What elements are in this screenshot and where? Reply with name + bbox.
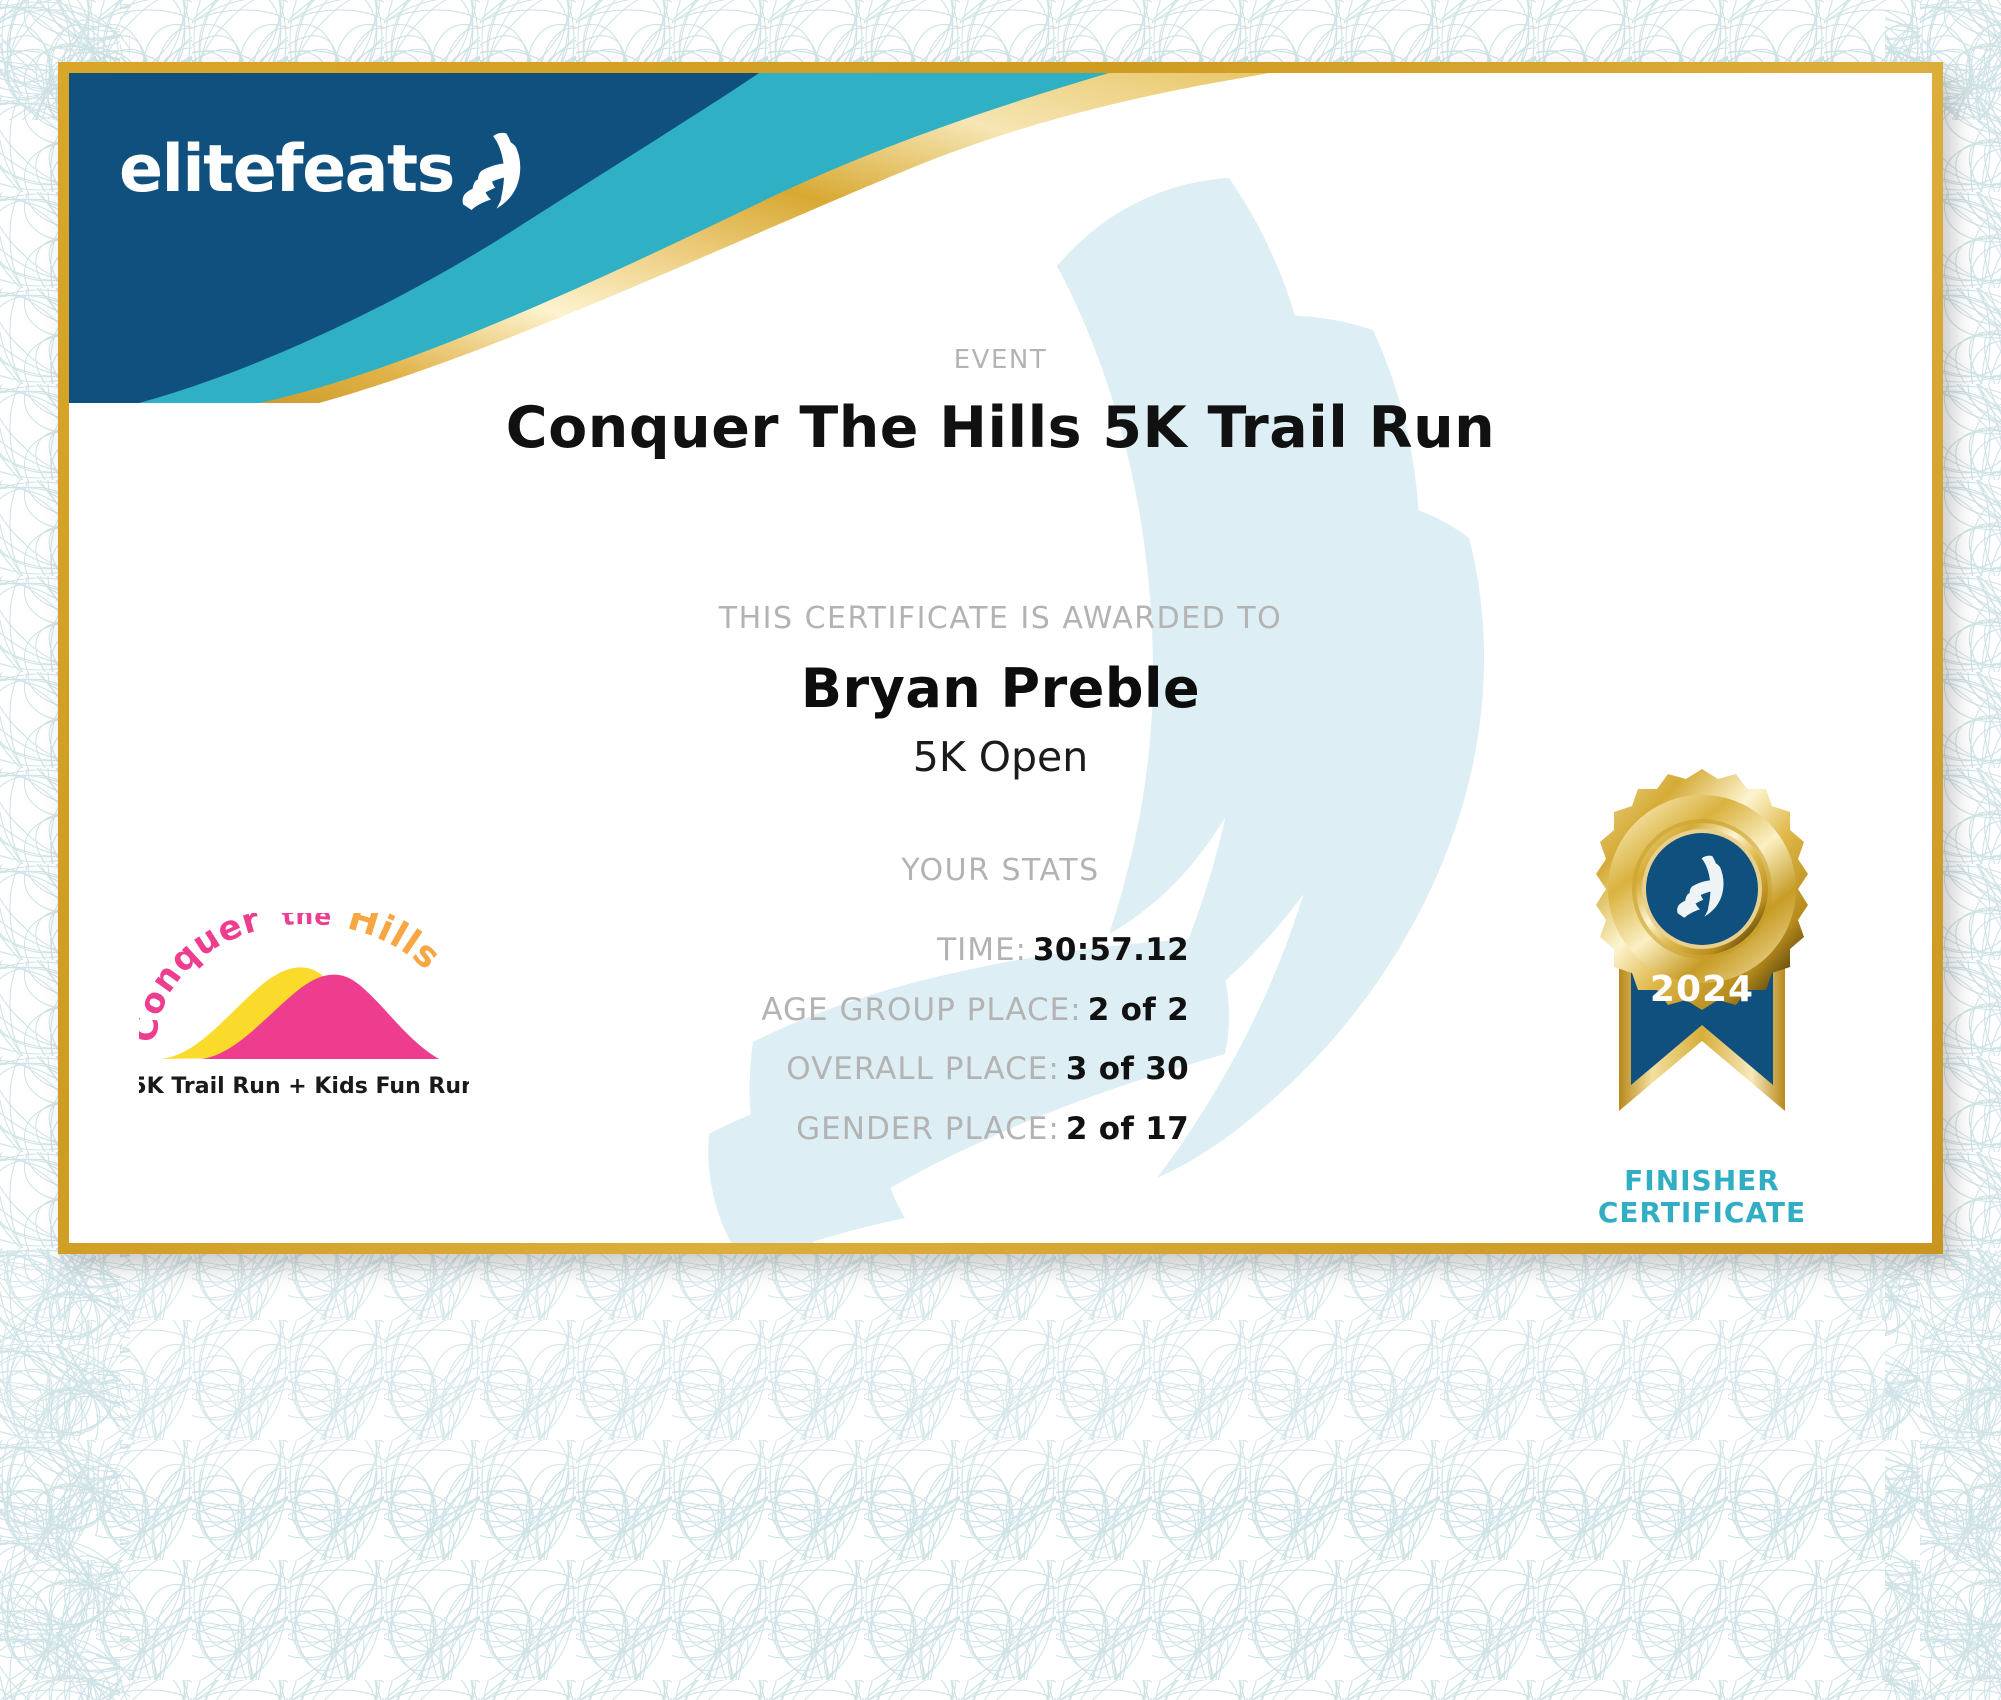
certificate-page: elitefeats EVENT Conquer	[0, 0, 2001, 1700]
medal-graphic: 2024	[1557, 763, 1847, 1163]
svg-text:the: the	[281, 913, 333, 931]
logo-word-the: the	[281, 913, 333, 931]
winged-foot-icon	[456, 132, 526, 210]
conquer-the-hills-logo: Conquer the Hills 5K Trail Run + Kids Fu…	[139, 913, 469, 1103]
recipient-name: Bryan Preble	[69, 657, 1932, 720]
badge-caption: FINISHER CERTIFICATE	[1557, 1165, 1847, 1229]
stat-key: AGE GROUP PLACE:	[761, 992, 1081, 1028]
stat-value: 30:57.12	[1033, 932, 1189, 968]
svg-text:Hills: Hills	[343, 913, 448, 978]
stat-row-gender-place: GENDER PLACE:2 of 17	[69, 1112, 1189, 1148]
certificate-gold-frame: elitefeats EVENT Conquer	[58, 62, 1943, 1254]
stat-value: 3 of 30	[1066, 1051, 1189, 1087]
stat-key: TIME:	[937, 932, 1027, 968]
stat-value: 2 of 2	[1088, 992, 1189, 1028]
badge-caption-line2: CERTIFICATE	[1557, 1197, 1847, 1229]
badge-caption-line1: FINISHER	[1557, 1165, 1847, 1197]
stat-key: GENDER PLACE:	[796, 1111, 1060, 1147]
logo-word-hills: Hills	[343, 913, 448, 978]
elitefeats-logo: elitefeats	[119, 128, 526, 210]
logo-tagline: 5K Trail Run + Kids Fun Run	[139, 1074, 469, 1099]
elitefeats-wordmark: elitefeats	[119, 137, 454, 202]
stat-key: OVERALL PLACE:	[786, 1051, 1060, 1087]
stat-value: 2 of 17	[1066, 1111, 1189, 1147]
event-label: EVENT	[69, 345, 1932, 375]
event-title: Conquer The Hills 5K Trail Run	[69, 395, 1932, 461]
badge-year: 2024	[1650, 969, 1754, 1010]
awarded-to-label: THIS CERTIFICATE IS AWARDED TO	[69, 601, 1932, 636]
finisher-medal-badge: 2024 FINISHER CERTIFICATE	[1557, 763, 1847, 1243]
certificate-paper: elitefeats EVENT Conquer	[69, 73, 1932, 1243]
